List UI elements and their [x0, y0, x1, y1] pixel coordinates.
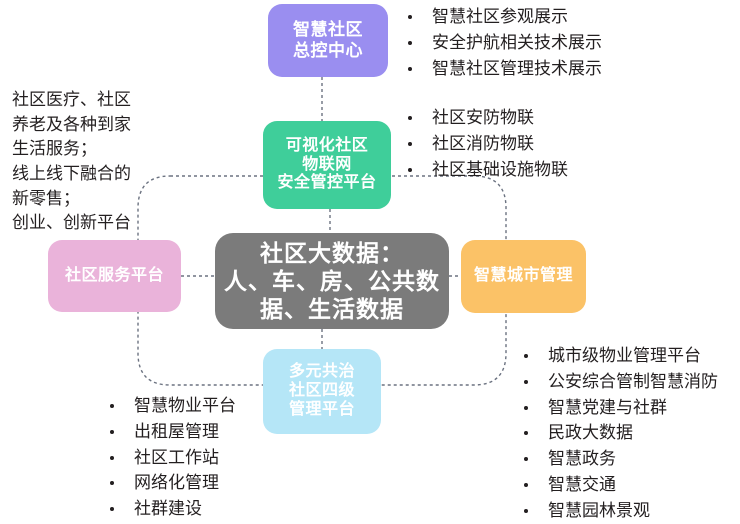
annotation-iot-list: 社区安防物联社区消防物联社区基础设施物联: [402, 105, 568, 182]
list-item: 智慧党建与社群: [518, 395, 718, 421]
annotation-governance-list: 智慧物业平台出租屋管理社区工作站网络化管理社群建设: [104, 393, 236, 522]
list-item: 安全护航相关技术展示: [402, 30, 602, 56]
node-bottom-label: 多元共治 社区四级 管理平台: [289, 363, 355, 420]
annotation-smart-city-list: 城市级物业管理平台公安综合管制智慧消防智慧党建与社群民政大数据智慧政务智慧交通智…: [518, 343, 718, 524]
list-item: 网络化管理: [104, 470, 236, 496]
node-top-label: 智慧社区 总控中心: [293, 20, 363, 60]
diagram-canvas: 社区大数据： 人、车、房、公共数 据、生活数据 智慧社区 总控中心 可视化社区 …: [0, 0, 740, 512]
list-item: 民政大数据: [518, 420, 718, 446]
node-visual-community-iot-platform[interactable]: 可视化社区 物联网 安全管控平台: [263, 121, 391, 209]
node-center-label: 社区大数据： 人、车、房、公共数 据、生活数据: [224, 239, 440, 323]
annotation-left-services: 社区医疗、社区 养老及各种到家 生活服务； 线上线下融合的 新零售； 创业、创新…: [12, 88, 187, 236]
list-item: 社区工作站: [104, 445, 236, 471]
list-item: 智慧交通: [518, 472, 718, 498]
node-community-big-data[interactable]: 社区大数据： 人、车、房、公共数 据、生活数据: [215, 233, 449, 329]
node-smart-city-management[interactable]: 智慧城市管理: [461, 240, 586, 313]
list-item: 智慧社区管理技术展示: [402, 56, 602, 82]
list-item: 智慧社区参观展示: [402, 4, 602, 30]
list-item: 城市级物业管理平台: [518, 343, 718, 369]
list-item: 智慧园林景观: [518, 498, 718, 524]
node-left-label: 社区服务平台: [65, 267, 164, 286]
node-smart-community-control-center[interactable]: 智慧社区 总控中心: [268, 4, 388, 77]
node-community-service-platform[interactable]: 社区服务平台: [48, 240, 181, 312]
list-item: 社区消防物联: [402, 131, 568, 157]
list-item: 社群建设: [104, 496, 236, 522]
node-four-level-governance-platform[interactable]: 多元共治 社区四级 管理平台: [263, 349, 381, 434]
annotation-top-right-list: 智慧社区参观展示安全护航相关技术展示智慧社区管理技术展示: [402, 4, 602, 81]
list-item: 社区安防物联: [402, 105, 568, 131]
node-green-label: 可视化社区 物联网 安全管控平台: [277, 137, 376, 194]
list-item: 公安综合管制智慧消防: [518, 369, 718, 395]
list-item: 出租屋管理: [104, 419, 236, 445]
node-right-label: 智慧城市管理: [474, 267, 573, 286]
list-item: 智慧物业平台: [104, 393, 236, 419]
list-item: 社区基础设施物联: [402, 157, 568, 183]
list-item: 智慧政务: [518, 446, 718, 472]
